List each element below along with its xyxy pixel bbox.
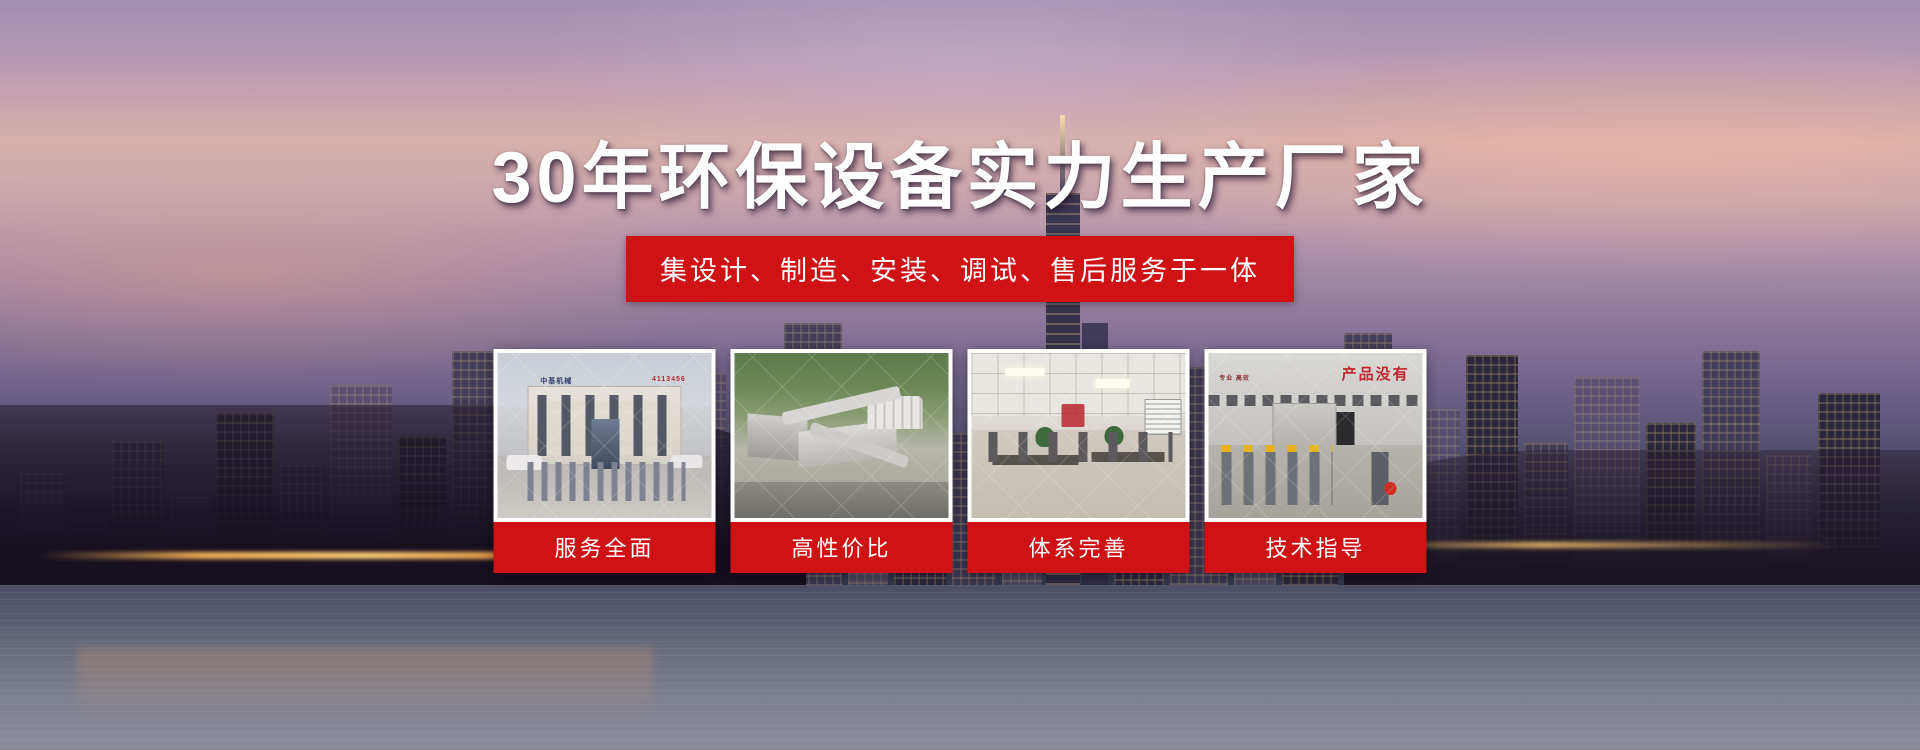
card-caption: 服务全面 <box>494 522 716 573</box>
building-sign-text: 中基机械 <box>540 376 572 386</box>
feature-card-list: 中基机械 4113456 服务全面 高性价比 <box>494 349 1427 573</box>
card-caption: 技术指导 <box>1205 522 1427 573</box>
banner-content: 30年环保设备实力生产厂家 集设计、制造、安装、调试、售后服务于一体 中基机械 … <box>0 0 1920 750</box>
factory-slogan-text: 产品没有 <box>1342 363 1410 384</box>
building-phone-text: 4113456 <box>652 376 686 383</box>
subtitle-banner: 集设计、制造、安装、调试、售后服务于一体 <box>626 236 1294 302</box>
card-photo-plant-aerial <box>735 353 949 518</box>
feature-card[interactable]: 中基机械 4113456 服务全面 <box>494 349 716 573</box>
feature-card[interactable]: 体系完善 <box>968 349 1190 573</box>
card-photo-factory-briefing: 产品没有 专业 高效 <box>1209 353 1423 518</box>
hero-banner: 30年环保设备实力生产厂家 集设计、制造、安装、调试、售后服务于一体 中基机械 … <box>0 0 1920 750</box>
card-photo-office-interior <box>972 353 1186 518</box>
feature-card[interactable]: 产品没有 专业 高效 技术指导 <box>1205 349 1427 573</box>
page-title: 30年环保设备实力生产厂家 <box>0 118 1920 223</box>
feature-card[interactable]: 高性价比 <box>731 349 953 573</box>
card-caption: 体系完善 <box>968 522 1190 573</box>
card-caption: 高性价比 <box>731 522 953 573</box>
card-photo-headquarters: 中基机械 4113456 <box>498 353 712 518</box>
factory-slogan-small-text: 专业 高效 <box>1219 373 1250 382</box>
